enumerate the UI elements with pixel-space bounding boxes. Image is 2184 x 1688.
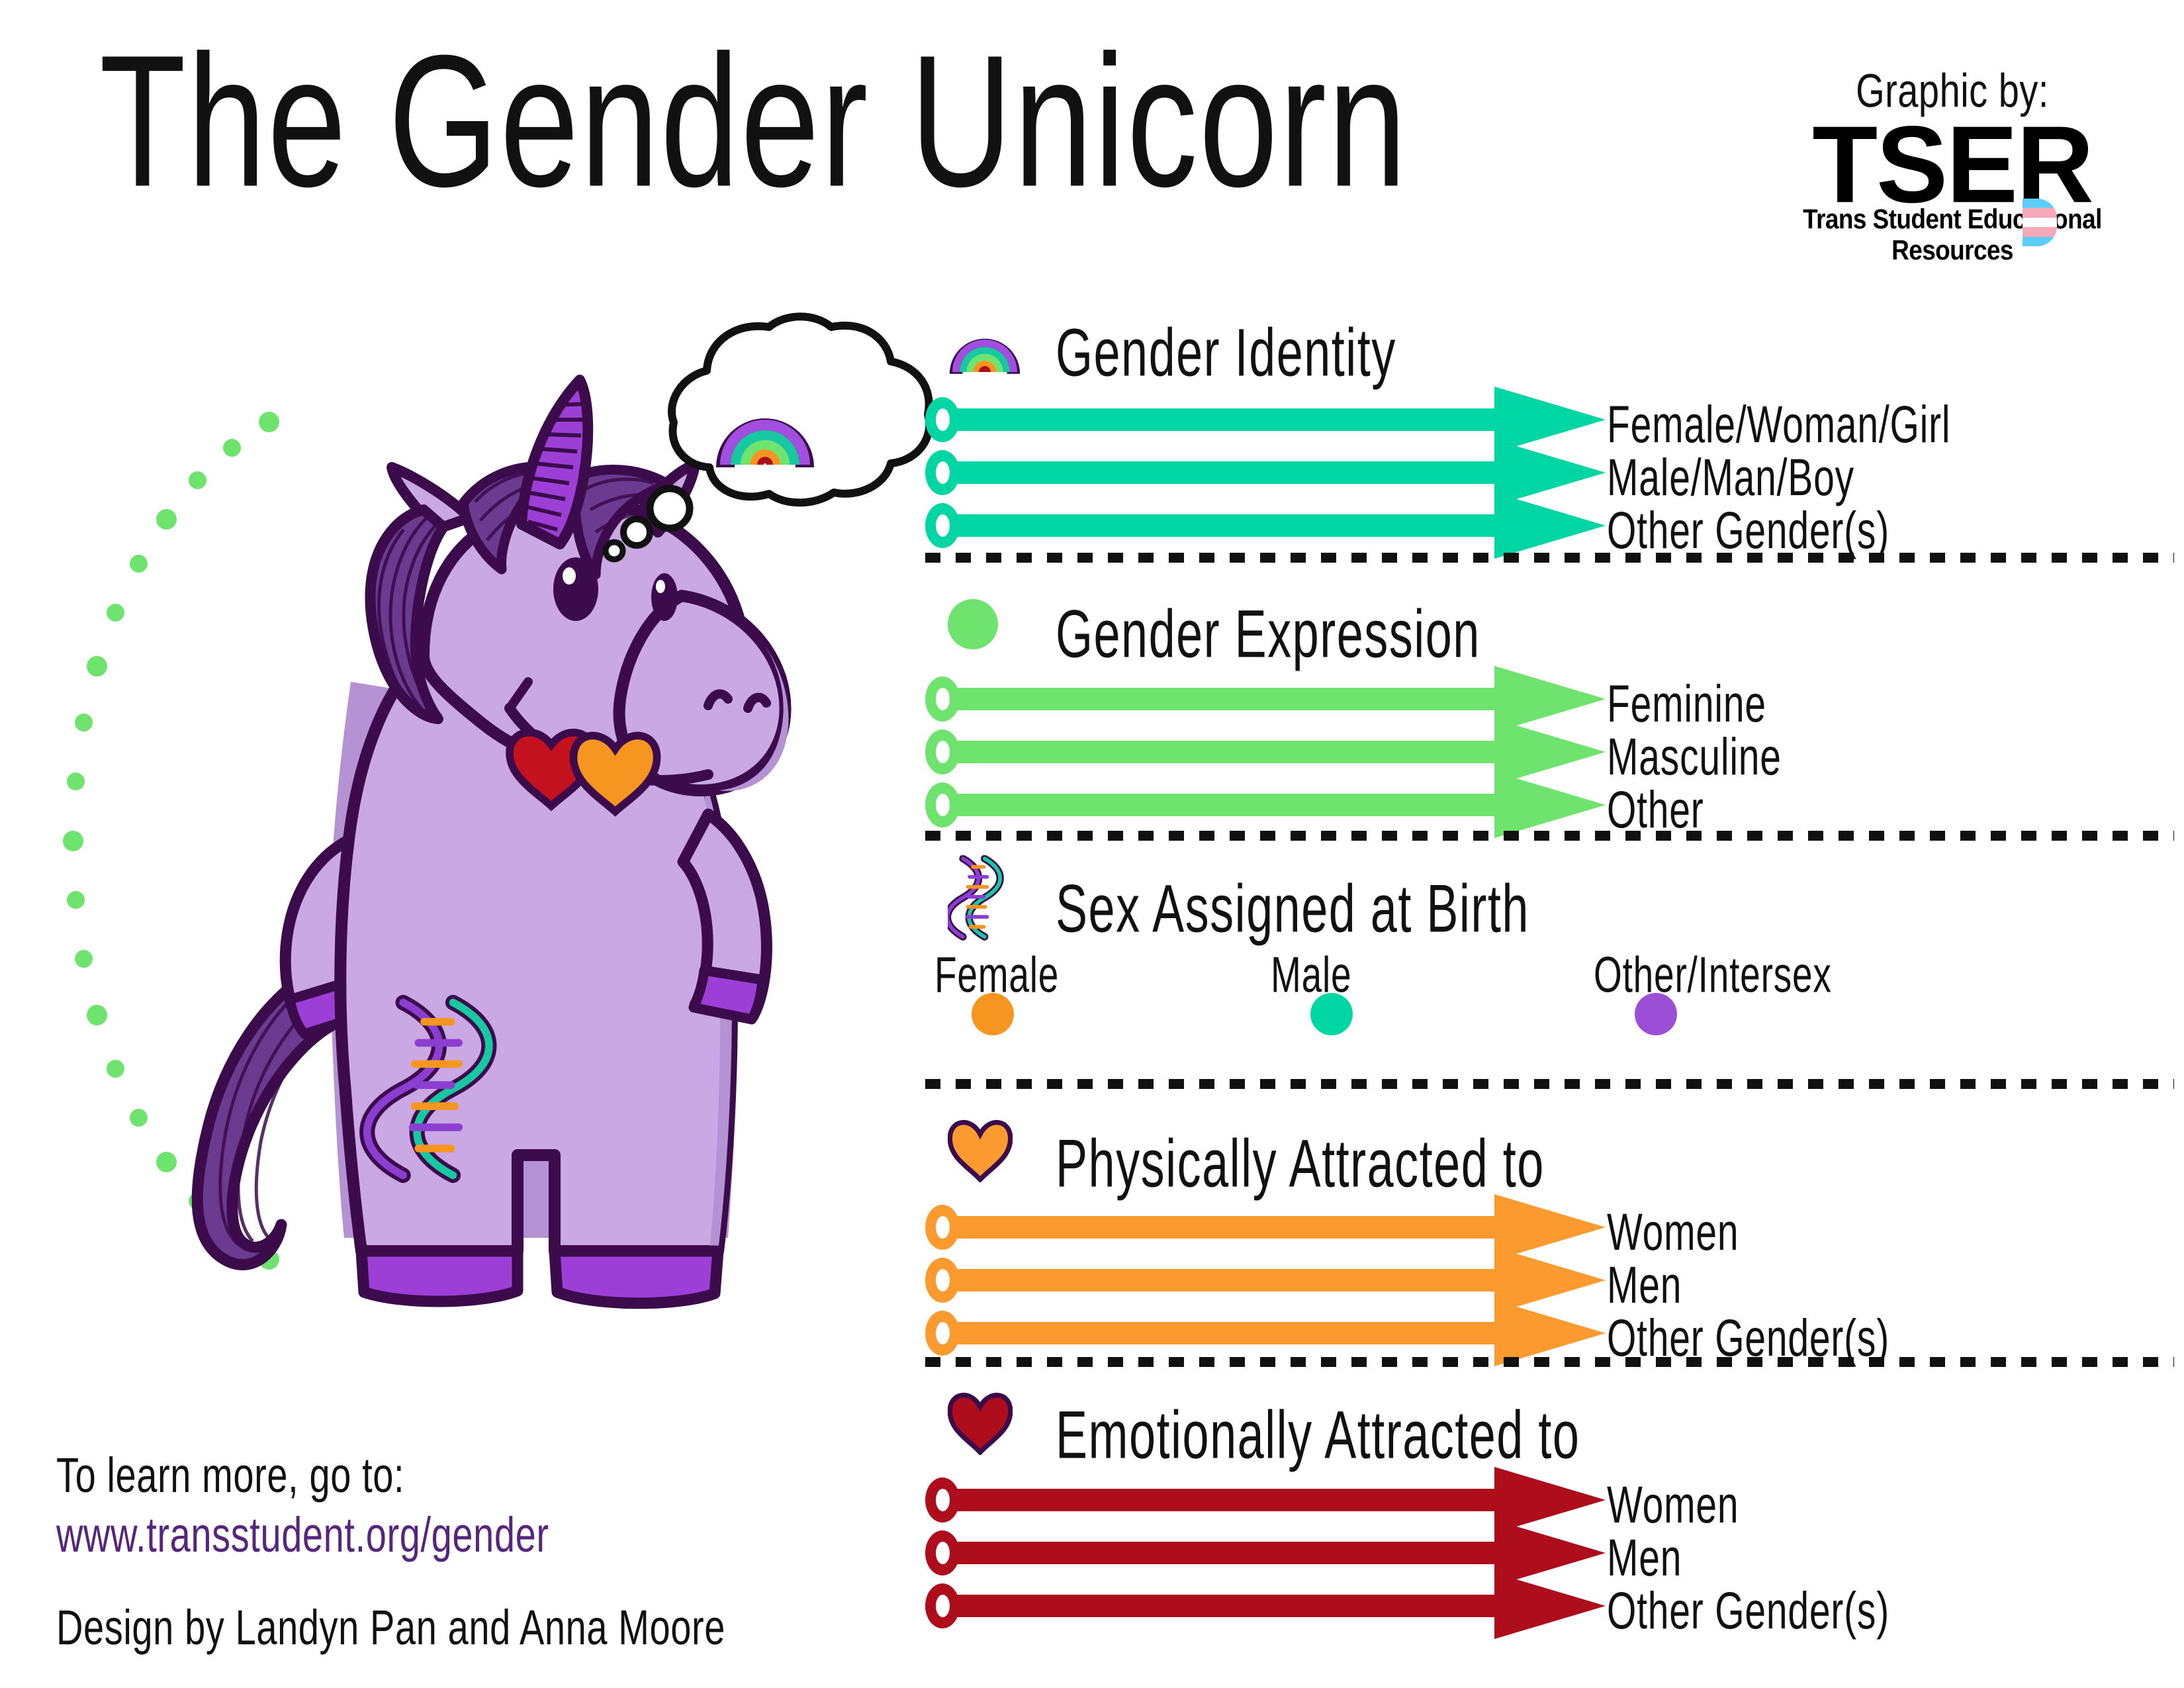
spectrum-arrow-physically-attracted-to-0 [925, 1205, 1600, 1250]
section-title-emotionally-attracted-to: Emotionally Attracted to [1056, 1397, 1580, 1474]
spectrum-label-gender-expression-0: Feminine [1607, 674, 1766, 734]
arrow-start-hole [936, 1216, 950, 1239]
dna-icon [948, 855, 1011, 946]
arrow-start-hole [936, 408, 950, 431]
spectrum-arrow-gender-expression-1 [925, 729, 1600, 774]
red-heart-icon [948, 1390, 1013, 1458]
arrow-head [1494, 1300, 1606, 1366]
arrow-shaft [954, 461, 1494, 484]
arrow-start-hole [936, 794, 950, 816]
spectrum-label-physically-attracted-to-1: Men [1607, 1255, 1682, 1315]
arrow-shaft [954, 688, 1494, 710]
sab-label-2: Other/Intersex [1594, 945, 1832, 1004]
section-title-gender-identity: Gender Identity [1056, 314, 1396, 391]
spectrum-arrow-physically-attracted-to-2 [925, 1311, 1600, 1356]
sab-dot-female [972, 993, 1014, 1035]
spectrum-label-gender-identity-1: Male/Man/Boy [1607, 447, 1854, 508]
arrow-start-hole [936, 741, 950, 763]
arrow-start-hole [936, 1489, 950, 1511]
spectrum-label-gender-identity-0: Female/Woman/Girl [1607, 395, 1950, 455]
spectrum-arrow-gender-expression-0 [925, 677, 1600, 722]
learn-more-label: To learn more, go to: [56, 1446, 404, 1503]
spectrum-label-emotionally-attracted-to-0: Women [1607, 1475, 1739, 1535]
spectrum-arrow-gender-identity-1 [925, 450, 1600, 495]
arrow-start-hole [936, 461, 950, 484]
spectrum-arrow-gender-expression-2 [925, 782, 1600, 827]
arrow-start-hole [936, 1322, 950, 1344]
arrow-shaft [954, 408, 1494, 431]
spectrum-arrow-physically-attracted-to-1 [925, 1258, 1600, 1303]
spectrum-arrow-gender-identity-2 [925, 503, 1600, 548]
spectrum-label-gender-identity-2: Other Gender(s) [1607, 500, 1889, 561]
arrow-shaft [954, 1542, 1494, 1564]
arrow-start-hole [936, 1542, 950, 1564]
spectrum-arrow-emotionally-attracted-to-2 [925, 1583, 1600, 1628]
spectrum-label-emotionally-attracted-to-2: Other Gender(s) [1607, 1581, 1889, 1641]
sab-dot-male [1310, 993, 1353, 1035]
section-divider [925, 1079, 2174, 1089]
section-divider [925, 1357, 2174, 1367]
section-title-sex-assigned-at-birth: Sex Assigned at Birth [1056, 870, 1529, 947]
arrow-head [1494, 1573, 1606, 1639]
orange-heart-icon [948, 1117, 1013, 1186]
arrow-shaft [954, 1322, 1494, 1344]
sab-dot-other-intersex [1635, 993, 1677, 1035]
spectrum-arrow-emotionally-attracted-to-1 [925, 1530, 1600, 1575]
arrow-start-hole [936, 1595, 950, 1617]
design-credit: Design by Landyn Pan and Anna Moore [56, 1599, 725, 1656]
rainbow-icon [948, 316, 1022, 379]
spectrum-label-physically-attracted-to-0: Women [1607, 1202, 1739, 1262]
section-title-physically-attracted-to: Physically Attracted to [1056, 1125, 1545, 1202]
arrow-start-hole [936, 514, 950, 537]
arrow-shaft [954, 794, 1494, 816]
arrow-head [1494, 492, 1606, 559]
arrow-shaft [954, 1595, 1494, 1617]
spectrum-arrow-emotionally-attracted-to-0 [925, 1477, 1600, 1523]
section-title-gender-expression: Gender Expression [1056, 596, 1480, 673]
arrow-shaft [954, 1489, 1494, 1511]
spectrum-arrow-gender-identity-0 [925, 397, 1600, 442]
arrow-shaft [954, 514, 1494, 537]
green-circle-icon [948, 599, 998, 649]
website-url[interactable]: www.transstudent.org/gender [56, 1506, 549, 1563]
arrow-shaft [954, 741, 1494, 763]
spectrum-column: Gender IdentityFemale/Woman/GirlMale/Man… [0, 0, 2184, 1688]
arrow-start-hole [936, 688, 950, 710]
arrow-shaft [954, 1269, 1494, 1291]
arrow-head [1494, 772, 1606, 838]
arrow-shaft [954, 1216, 1494, 1239]
spectrum-label-emotionally-attracted-to-1: Men [1607, 1528, 1682, 1588]
section-divider [925, 831, 2174, 841]
arrow-start-hole [936, 1269, 950, 1291]
trans-flag-icon [2023, 199, 2057, 246]
section-divider [925, 553, 2174, 563]
spectrum-label-gender-expression-1: Masculine [1607, 727, 1782, 787]
